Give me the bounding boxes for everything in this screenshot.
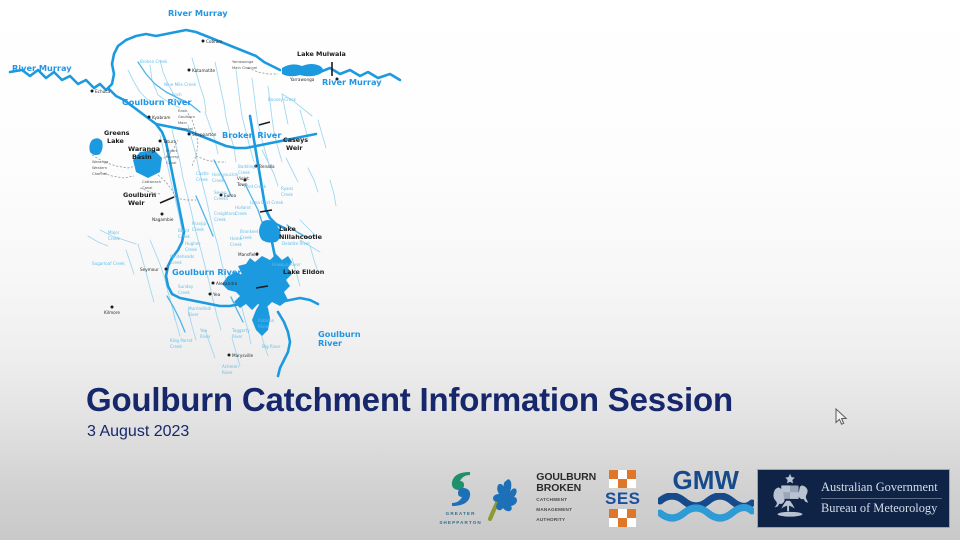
svg-text:Boddington: Boddington (238, 164, 262, 169)
logo-goulburn-broken-cma: GOULBURN BROKEN CATCHMENT MANAGEMENT AUT… (491, 462, 591, 534)
svg-text:Castle: Castle (196, 171, 209, 176)
svg-text:Lake: Lake (107, 137, 124, 145)
svg-text:Sunday: Sunday (178, 284, 194, 289)
logo-ses: SES (591, 462, 654, 534)
svg-text:Basin: Basin (132, 153, 152, 161)
bom-divider (821, 498, 942, 499)
gmw-wave-icon (658, 493, 754, 528)
svg-text:River: River (318, 338, 343, 348)
svg-text:Main: Main (178, 121, 187, 125)
page-title: Goulburn Catchment Information Session (86, 383, 733, 418)
svg-text:Cattanach: Cattanach (142, 180, 162, 184)
svg-text:Hughes: Hughes (185, 241, 201, 246)
slide-date: 3 August 2023 (87, 423, 733, 441)
svg-text:Yea: Yea (212, 292, 221, 297)
shepparton-label-line2: SHEPPARTON (439, 520, 481, 527)
svg-text:Howqua River: Howqua River (272, 262, 301, 267)
svg-text:Mansfield: Mansfield (238, 252, 258, 257)
svg-text:Lake: Lake (279, 225, 296, 233)
svg-text:Broken Creek: Broken Creek (140, 59, 168, 64)
svg-text:Loch: Loch (172, 92, 182, 97)
presentation-slide: River Murray River Murray River Murray G… (0, 0, 960, 540)
svg-text:Echuca: Echuca (95, 89, 111, 94)
svg-text:Nillahcootie: Nillahcootie (279, 233, 323, 241)
gbcma-line2: BROKEN (536, 483, 596, 494)
logo-goulburn-murray-water: GMW (654, 462, 757, 534)
svg-text:Major: Major (108, 230, 120, 235)
gbcma-sub3: AUTHORITY (536, 517, 596, 524)
svg-text:Kyabram: Kyabram (152, 115, 171, 120)
svg-text:Lake Eildon: Lake Eildon (283, 268, 325, 276)
gbcma-sub1: CATCHMENT (536, 497, 596, 504)
logo-bureau-of-meteorology: Australian Government Bureau of Meteorol… (757, 462, 950, 534)
svg-text:Home: Home (230, 236, 243, 241)
svg-text:Creek: Creek (230, 242, 242, 247)
svg-text:Creek: Creek (235, 211, 247, 216)
svg-text:Rubicon: Rubicon (258, 318, 275, 323)
svg-text:Creek: Creek (214, 217, 226, 222)
svg-text:Yarrawonga: Yarrawonga (232, 60, 253, 64)
svg-text:Greens: Greens (104, 129, 130, 137)
svg-text:Weir: Weir (128, 199, 145, 207)
svg-text:Boosey Creek: Boosey Creek (268, 97, 297, 102)
gmw-wordmark: GMW (672, 468, 738, 493)
ses-checker-top-icon (609, 470, 636, 488)
svg-text:Weir: Weir (286, 144, 303, 152)
svg-text:Creek: Creek (170, 260, 182, 265)
svg-text:Lima East Creek: Lima East Creek (250, 200, 284, 205)
svg-text:Broken River: Broken River (222, 130, 282, 140)
svg-text:Delatite River: Delatite River (282, 241, 310, 246)
svg-text:Murray: Murray (166, 155, 180, 159)
svg-text:Creek: Creek (178, 234, 190, 239)
svg-text:Holland: Holland (235, 205, 251, 210)
svg-text:Yarrawonga: Yarrawonga (289, 77, 315, 82)
svg-text:Goulburn: Goulburn (178, 115, 196, 119)
svg-text:Lake Mulwala: Lake Mulwala (297, 50, 346, 58)
svg-text:East: East (178, 109, 187, 113)
svg-text:Whiteheads: Whiteheads (170, 254, 194, 259)
svg-text:Creek: Creek (212, 178, 224, 183)
svg-text:River: River (222, 370, 233, 375)
svg-text:Alexandra: Alexandra (216, 281, 238, 286)
svg-text:Goulburn River: Goulburn River (172, 267, 242, 277)
svg-text:Creightons: Creightons (214, 211, 236, 216)
svg-text:Canal: Canal (142, 186, 152, 190)
bom-line2: Bureau of Meteorology (821, 501, 942, 517)
svg-text:Caseys: Caseys (283, 136, 308, 144)
svg-text:Creek: Creek (178, 290, 190, 295)
svg-text:Pranjip: Pranjip (192, 221, 206, 226)
svg-text:Creek: Creek (196, 177, 208, 182)
svg-text:River Murray: River Murray (12, 63, 72, 73)
svg-text:Honeysuckle: Honeysuckle (212, 172, 239, 177)
svg-text:Acheron: Acheron (222, 364, 239, 369)
svg-text:Violet: Violet (237, 176, 249, 181)
mouse-cursor-icon (835, 408, 849, 426)
svg-text:Canal: Canal (166, 161, 176, 165)
svg-text:River Murray: River Murray (168, 8, 228, 18)
svg-text:Stuart: Stuart (166, 149, 178, 153)
svg-text:Waranga: Waranga (92, 160, 108, 164)
svg-text:River: River (258, 324, 269, 329)
svg-text:Ford Creek: Ford Creek (244, 184, 267, 189)
shepparton-label-line1: GREATER (446, 511, 476, 518)
svg-text:King Parrot: King Parrot (170, 338, 193, 343)
svg-text:Creek: Creek (170, 344, 182, 349)
svg-text:Kilmore: Kilmore (104, 310, 120, 315)
svg-text:Garry: Garry (172, 98, 184, 103)
svg-text:Murrindindi: Murrindindi (188, 306, 211, 311)
svg-text:Channel: Channel (178, 127, 193, 131)
svg-text:Tatura: Tatura (162, 139, 176, 144)
ses-wordmark: SES (605, 490, 641, 507)
svg-text:Nine Mile Creek: Nine Mile Creek (164, 82, 197, 87)
svg-text:Creek: Creek (192, 227, 204, 232)
svg-text:Nagambie: Nagambie (152, 217, 174, 222)
svg-text:Ryans: Ryans (281, 186, 293, 191)
australian-coat-of-arms-icon (765, 472, 815, 525)
svg-text:Sugarloaf Creek: Sugarloaf Creek (92, 261, 125, 266)
svg-text:Big River: Big River (262, 344, 281, 349)
svg-text:Main Channel: Main Channel (232, 66, 257, 70)
svg-text:Shepparton: Shepparton (192, 132, 217, 137)
svg-text:River: River (188, 312, 199, 317)
svg-text:Taggerty: Taggerty (231, 328, 250, 333)
svg-text:Creek: Creek (281, 192, 293, 197)
ses-checker-bottom-icon (609, 509, 636, 527)
svg-text:River Murray: River Murray (322, 77, 382, 87)
svg-text:Seymour: Seymour (140, 267, 159, 272)
greater-shepparton-mark-icon (444, 469, 478, 509)
sponsor-logo-bar: GREATER SHEPPARTON GOULBURN BROKEN CATCH… (430, 458, 950, 538)
gbcma-sub2: MANAGEMENT (536, 507, 596, 514)
svg-text:Waranga: Waranga (128, 145, 160, 153)
title-block: Goulburn Catchment Information Session 3… (86, 383, 733, 440)
svg-text:Creek: Creek (185, 247, 197, 252)
svg-text:Brankeet: Brankeet (240, 229, 259, 234)
svg-text:River: River (200, 334, 211, 339)
svg-text:Goulburn: Goulburn (123, 191, 157, 199)
svg-text:Burnt: Burnt (178, 228, 190, 233)
catchment-map: River Murray River Murray River Murray G… (0, 0, 420, 390)
svg-text:Creek: Creek (238, 170, 250, 175)
svg-text:Cobram: Cobram (206, 39, 223, 44)
svg-text:Creeks: Creeks (214, 196, 228, 201)
svg-text:River: River (232, 334, 243, 339)
svg-text:Katamatite: Katamatite (192, 68, 216, 73)
svg-text:Western: Western (92, 166, 108, 170)
svg-text:Creek: Creek (108, 236, 120, 241)
bom-line1: Australian Government (821, 480, 942, 496)
svg-text:Seven: Seven (214, 190, 227, 195)
logo-greater-shepparton: GREATER SHEPPARTON (430, 462, 491, 534)
svg-text:Channel: Channel (92, 172, 107, 176)
svg-text:Marysville: Marysville (232, 353, 254, 358)
gbcma-hand-tree-icon (486, 475, 520, 521)
svg-text:Yea: Yea (199, 328, 207, 333)
